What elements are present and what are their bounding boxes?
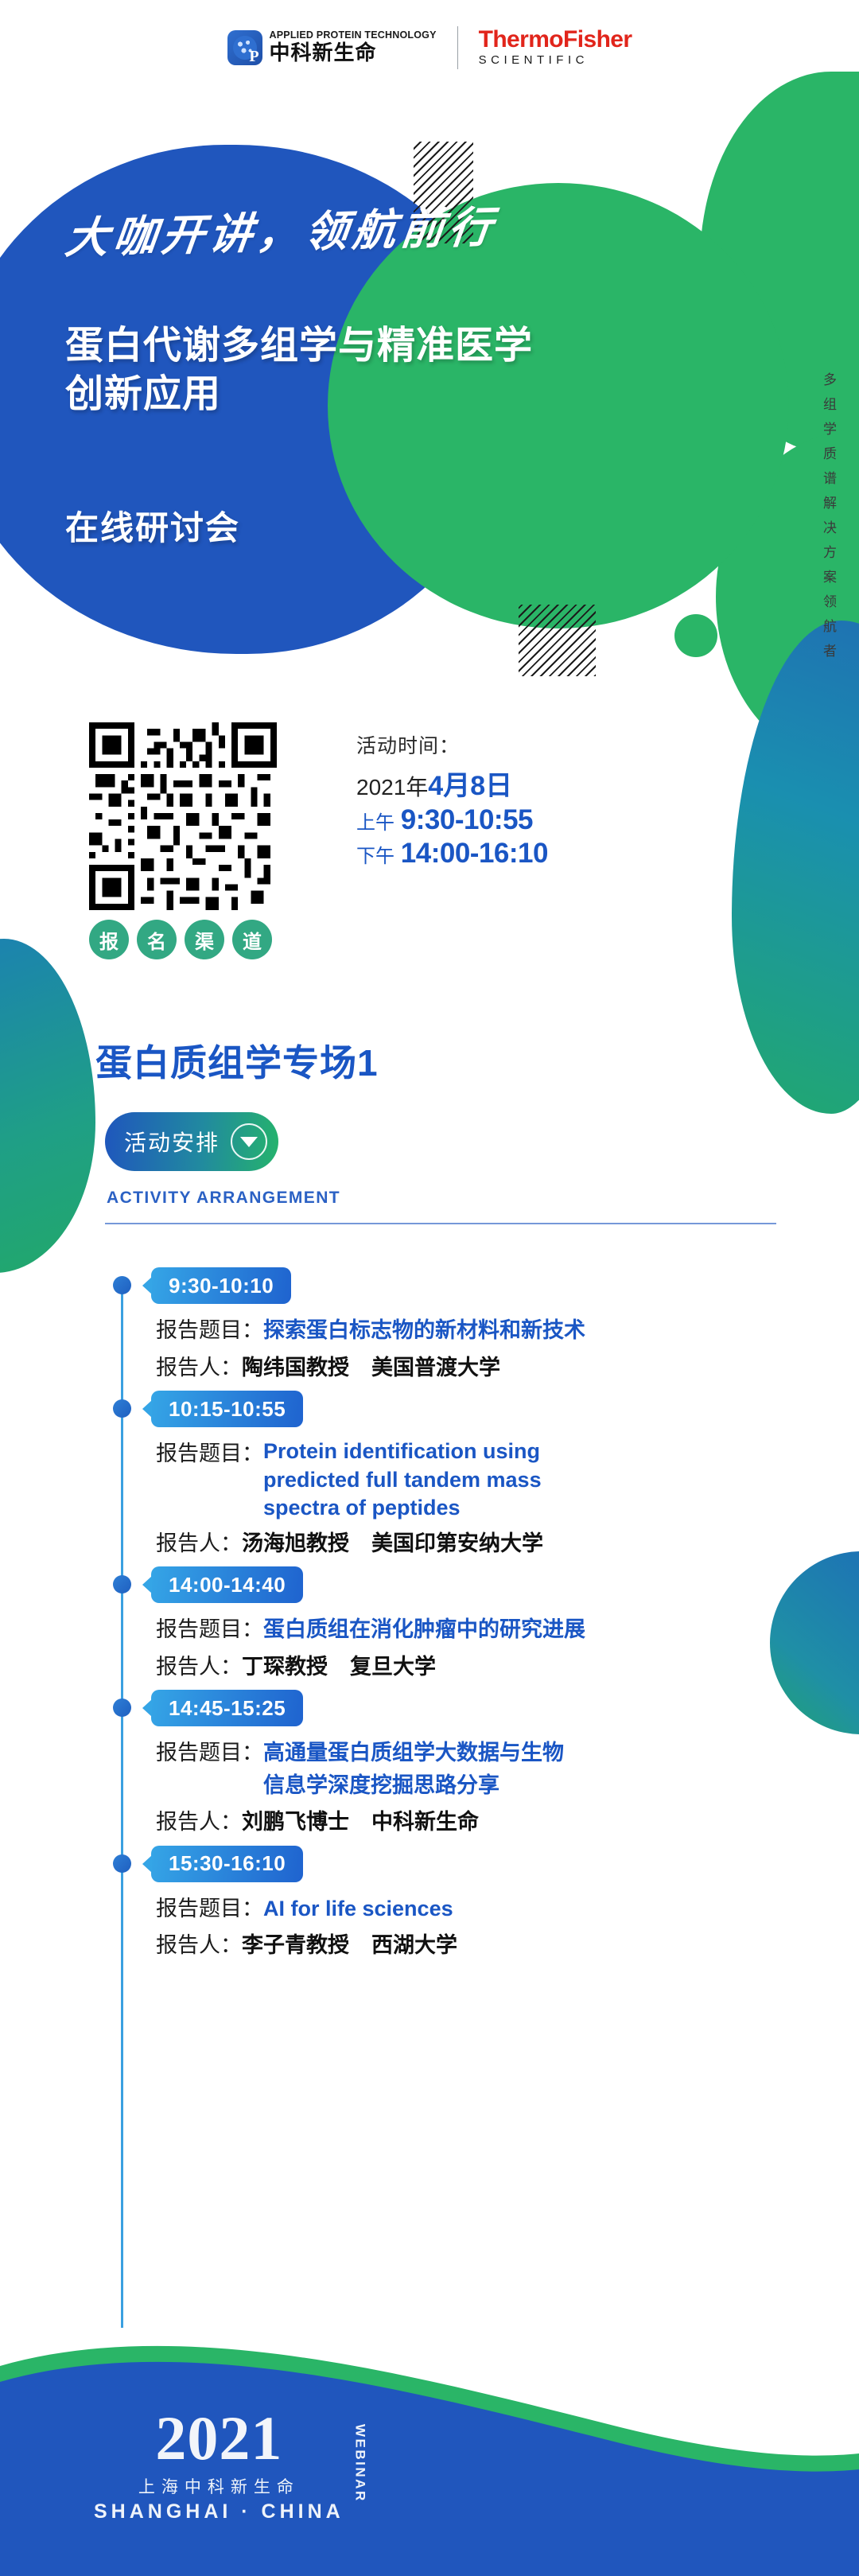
speaker-affiliation: 美国印第安纳大学 bbox=[371, 1531, 543, 1555]
agenda-topic-line2: 信息学深度挖掘思路分享 bbox=[263, 1769, 564, 1802]
agenda-speaker-row: 报告人： 丁琛教授复旦大学 bbox=[156, 1651, 859, 1683]
topic-label: 报告题目： bbox=[156, 1893, 263, 1925]
timeline-dot bbox=[113, 1399, 131, 1418]
activity-arrangement-pill[interactable]: 活动安排 bbox=[105, 1112, 278, 1171]
agenda-item: 10:15-10:55 报告题目： Protein identification… bbox=[0, 1388, 859, 1559]
event-date-prefix: 2021年 bbox=[356, 775, 428, 800]
header-logos: APPLIED PROTEIN TECHNOLOGY 中科新生命 ThermoF… bbox=[0, 0, 859, 95]
vertical-tagline: 多组学质谱解决方案领航者 bbox=[820, 372, 835, 668]
logo-thermo-fisher: ThermoFisher SCIENTIFIC bbox=[479, 28, 632, 68]
event-morning-time: 9:30-10:55 bbox=[401, 804, 533, 835]
footer: 2021 上海中科新生命 SHANGHAI · CHINA WEBINAR bbox=[0, 2290, 859, 2576]
footer-branding: 2021 上海中科新生命 SHANGHAI · CHINA WEBINAR bbox=[94, 2409, 368, 2523]
chevron-down-icon[interactable] bbox=[231, 1123, 267, 1160]
speaker-affiliation: 中科新生命 bbox=[371, 1810, 479, 1834]
agenda-time-badge: 10:15-10:55 bbox=[151, 1391, 303, 1427]
activity-arrangement-english: ACTIVITY ARRANGEMENT bbox=[107, 1189, 340, 1208]
agenda-speaker-row: 报告人： 刘鹏飞博士中科新生命 bbox=[156, 1806, 859, 1839]
speaker-label: 报告人： bbox=[156, 1929, 242, 1962]
event-date-main: 4月8日 bbox=[428, 771, 512, 801]
footer-company-en: SHANGHAI · CHINA bbox=[94, 2500, 344, 2523]
agenda-time-badge: 14:00-14:40 bbox=[151, 1566, 303, 1603]
footer-webinar-label: WEBINAR bbox=[352, 2424, 368, 2503]
speaker-affiliation: 美国普渡大学 bbox=[371, 1356, 500, 1379]
event-afternoon-row: 下午 14:00-16:10 bbox=[356, 838, 548, 870]
agenda-topic: 探索蛋白标志物的新材料和新技术 bbox=[263, 1314, 585, 1347]
agenda-item: 14:00-14:40 报告题目： 蛋白质组在消化肿瘤中的研究进展 报告人： 丁… bbox=[0, 1564, 859, 1683]
event-morning-label: 上午 bbox=[356, 812, 395, 834]
event-time-block: 活动时间： 2021年4月8日 上午 9:30-10:55 下午 14:00-1… bbox=[356, 730, 548, 871]
registration-bubble: 名 bbox=[137, 920, 177, 959]
agenda-topic: 高通量蛋白质组学大数据与生物 信息学深度挖掘思路分享 bbox=[263, 1737, 564, 1801]
agenda-speaker-row: 报告人： 陶纬国教授美国普渡大学 bbox=[156, 1352, 859, 1384]
timeline-dot bbox=[113, 1854, 131, 1873]
registration-bubbles: 报 名 渠 道 bbox=[89, 920, 277, 959]
agenda-time-badge: 9:30-10:10 bbox=[151, 1267, 291, 1304]
registration-block: 报 名 渠 道 bbox=[89, 722, 277, 959]
footer-company-cn: 上海中科新生命 bbox=[138, 2474, 300, 2498]
decor-hatch-square-mid bbox=[519, 605, 596, 676]
topic-label: 报告题目： bbox=[156, 1613, 263, 1646]
registration-bubble: 报 bbox=[89, 920, 129, 959]
event-time-label: 活动时间： bbox=[356, 730, 548, 759]
logo-divider bbox=[457, 26, 458, 69]
topic-label: 报告题目： bbox=[156, 1314, 263, 1347]
section-divider bbox=[105, 1223, 776, 1224]
poster-root: APPLIED PROTEIN TECHNOLOGY 中科新生命 ThermoF… bbox=[0, 0, 859, 2576]
event-morning-row: 上午 9:30-10:55 bbox=[356, 804, 548, 836]
topic-label: 报告题目： bbox=[156, 1737, 263, 1769]
speaker-label: 报告人： bbox=[156, 1651, 242, 1683]
agenda-speaker: 丁琛教授复旦大学 bbox=[242, 1651, 436, 1683]
timeline-dot bbox=[113, 1276, 131, 1294]
agenda-speaker-row: 报告人： 汤海旭教授美国印第安纳大学 bbox=[156, 1527, 859, 1560]
agenda-topic-line1: 高通量蛋白质组学大数据与生物 bbox=[263, 1741, 564, 1765]
agenda-topic: 蛋白质组在消化肿瘤中的研究进展 bbox=[263, 1613, 585, 1646]
timeline-dot bbox=[113, 1575, 131, 1593]
agenda-topic-row: 报告题目： AI for life sciences bbox=[156, 1893, 859, 1925]
agenda-item: 15:30-16:10 报告题目： AI for life sciences 报… bbox=[0, 1843, 859, 1962]
speaker-label: 报告人： bbox=[156, 1806, 242, 1839]
event-afternoon-label: 下午 bbox=[356, 846, 395, 867]
speaker-name: 汤海旭教授 bbox=[242, 1531, 349, 1555]
speaker-label: 报告人： bbox=[156, 1527, 242, 1560]
agenda-speaker: 陶纬国教授美国普渡大学 bbox=[242, 1352, 500, 1384]
thermofisher-scientific-text: SCIENTIFIC bbox=[479, 52, 632, 68]
speaker-name: 刘鹏飞博士 bbox=[242, 1810, 349, 1834]
decor-gradient-right bbox=[732, 621, 859, 1114]
agenda-topic-row: 报告题目： 探索蛋白标志物的新材料和新技术 bbox=[156, 1314, 859, 1347]
agenda-topic-row: 报告题目： Protein identification using predi… bbox=[156, 1438, 859, 1523]
hero-main-title-line2: 创新应用 bbox=[65, 370, 533, 418]
session-title: 蛋白质组学专场1 bbox=[95, 1034, 379, 1087]
decor-gradient-left bbox=[0, 939, 95, 1273]
agenda-topic: Protein identification using predicted f… bbox=[263, 1438, 605, 1523]
agenda-item: 9:30-10:10 报告题目： 探索蛋白标志物的新材料和新技术 报告人： 陶纬… bbox=[0, 1265, 859, 1383]
hero-main-title: 蛋白代谢多组学与精准医学 创新应用 bbox=[65, 321, 533, 419]
logo-applied-protein-technology: APPLIED PROTEIN TECHNOLOGY 中科新生命 bbox=[227, 30, 437, 65]
registration-bubble: 道 bbox=[232, 920, 272, 959]
registration-bubble: 渠 bbox=[185, 920, 224, 959]
footer-year: 2021 bbox=[155, 2409, 282, 2468]
activity-pill-label: 活动安排 bbox=[124, 1126, 220, 1158]
speaker-affiliation: 西湖大学 bbox=[371, 1933, 457, 1957]
agenda-speaker: 汤海旭教授美国印第安纳大学 bbox=[242, 1527, 543, 1560]
topic-label: 报告题目： bbox=[156, 1438, 263, 1470]
agenda-speaker: 刘鹏飞博士中科新生命 bbox=[242, 1806, 479, 1839]
speaker-affiliation: 复旦大学 bbox=[350, 1655, 436, 1679]
speaker-label: 报告人： bbox=[156, 1352, 242, 1384]
hero-calligraphy-slogan: 大咖开讲，领航前行 bbox=[63, 192, 501, 266]
agenda-timeline: 9:30-10:10 报告题目： 探索蛋白标志物的新材料和新技术 报告人： 陶纬… bbox=[0, 1265, 859, 1967]
speaker-name: 陶纬国教授 bbox=[242, 1356, 349, 1379]
decor-green-dot bbox=[674, 614, 717, 657]
event-afternoon-time: 14:00-16:10 bbox=[401, 838, 548, 869]
agenda-topic: AI for life sciences bbox=[263, 1893, 453, 1925]
apt-logo-chinese: 中科新生命 bbox=[270, 41, 437, 65]
agenda-speaker: 李子青教授西湖大学 bbox=[242, 1929, 457, 1962]
agenda-time-badge: 14:45-15:25 bbox=[151, 1690, 303, 1726]
agenda-time-badge: 15:30-16:10 bbox=[151, 1846, 303, 1882]
agenda-topic-row: 报告题目： 蛋白质组在消化肿瘤中的研究进展 bbox=[156, 1613, 859, 1646]
decor-green-lobe-mid bbox=[716, 430, 859, 764]
agenda-item: 14:45-15:25 报告题目： 高通量蛋白质组学大数据与生物 信息学深度挖掘… bbox=[0, 1687, 859, 1839]
apt-logo-icon bbox=[227, 30, 262, 65]
hero-subtitle: 在线研讨会 bbox=[65, 501, 240, 550]
apt-logo-english: APPLIED PROTEIN TECHNOLOGY bbox=[270, 30, 437, 41]
speaker-name: 丁琛教授 bbox=[242, 1655, 328, 1679]
qr-code-image[interactable] bbox=[89, 722, 277, 910]
agenda-speaker-row: 报告人： 李子青教授西湖大学 bbox=[156, 1929, 859, 1962]
agenda-topic-row: 报告题目： 高通量蛋白质组学大数据与生物 信息学深度挖掘思路分享 bbox=[156, 1737, 859, 1801]
speaker-name: 李子青教授 bbox=[242, 1933, 349, 1957]
event-date-row: 2021年4月8日 bbox=[356, 764, 548, 803]
hero-main-title-line1: 蛋白代谢多组学与精准医学 bbox=[65, 321, 533, 370]
thermofisher-wordmark: ThermoFisher bbox=[479, 28, 632, 52]
timeline-dot bbox=[113, 1699, 131, 1717]
